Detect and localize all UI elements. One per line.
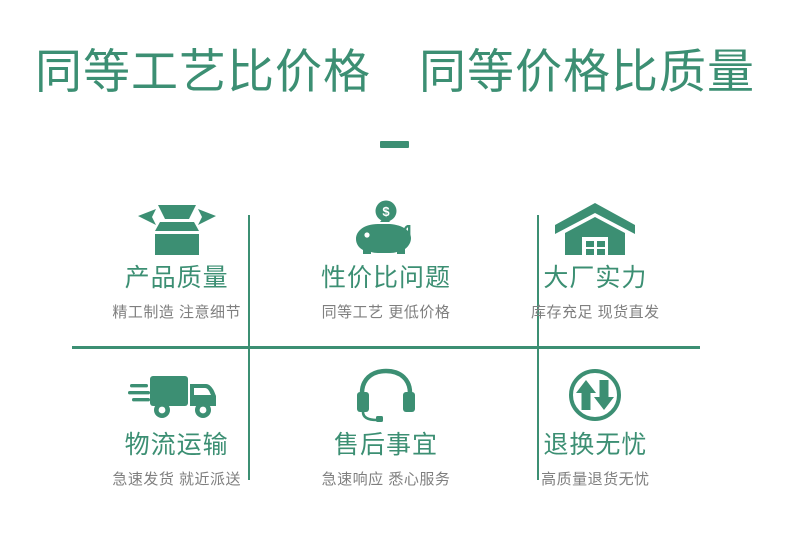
- feature-cell-product-quality: 产品质量 精工制造 注意细节: [72, 185, 281, 348]
- svg-text:$: $: [382, 204, 390, 219]
- feature-subtitle: 同等工艺 更低价格: [322, 302, 451, 324]
- page-title: 同等工艺比价格 同等价格比质量: [35, 44, 755, 100]
- delivery-truck-icon: [128, 366, 226, 424]
- feature-cell-returns: 退换无忧 高质量退货无忧: [491, 348, 700, 511]
- feature-cell-after-sales: 售后事宜 急速响应 悉心服务: [281, 348, 490, 511]
- feature-subtitle: 高质量退货无忧: [541, 469, 650, 491]
- feature-title: 退换无忧: [543, 430, 647, 460]
- feature-title: 产品质量: [125, 263, 229, 293]
- feature-cell-price-performance: $ 性价比问题 同等工艺 更低价格: [281, 185, 490, 348]
- feature-title: 性价比问题: [321, 263, 451, 293]
- header-divider: [380, 141, 409, 148]
- feature-subtitle: 库存充足 现货直发: [531, 302, 660, 324]
- feature-cell-logistics: 物流运输 急速发货 就近派送: [72, 348, 281, 511]
- feature-grid: 产品质量 精工制造 注意细节 $ 性价比问题 同等工艺 更低价格: [72, 185, 700, 510]
- promo-banner: 同等工艺比价格 同等价格比质量 产品质量 精工制造 注意细: [0, 0, 790, 536]
- feature-cell-factory-strength: 大厂实力 库存充足 现货直发: [491, 185, 700, 348]
- feature-title: 大厂实力: [543, 263, 647, 293]
- feature-subtitle: 急速响应 悉心服务: [322, 469, 451, 491]
- header: 同等工艺比价格 同等价格比质量: [0, 44, 790, 100]
- feature-title: 售后事宜: [334, 430, 438, 460]
- warehouse-icon: [553, 199, 637, 257]
- open-box-icon: [134, 199, 220, 257]
- piggy-bank-icon: $: [350, 199, 422, 257]
- headset-icon: [355, 366, 417, 424]
- feature-title: 物流运输: [125, 430, 229, 460]
- feature-subtitle: 急速发货 就近派送: [112, 469, 241, 491]
- exchange-arrows-icon: [568, 366, 622, 424]
- feature-subtitle: 精工制造 注意细节: [112, 302, 241, 324]
